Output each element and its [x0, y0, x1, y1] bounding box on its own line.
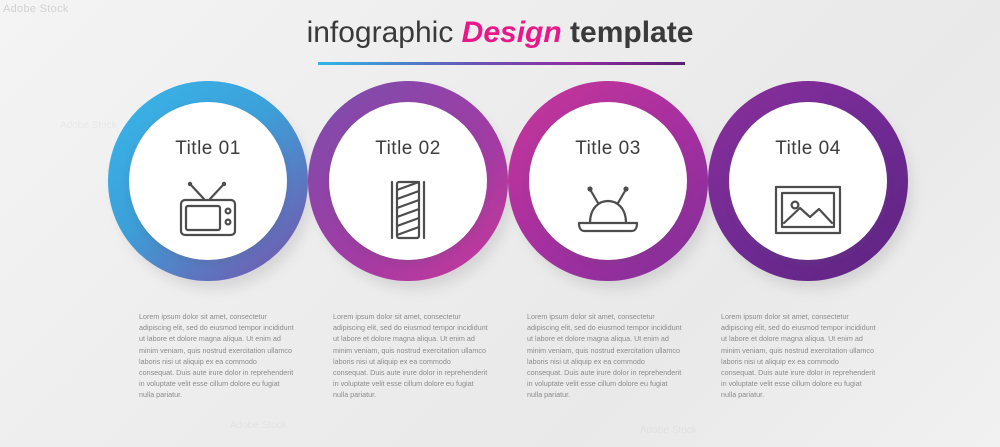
- step-title-1: Title 01: [129, 138, 287, 160]
- watermark-tile: Adobe Stock: [230, 420, 287, 431]
- photo-stamp-icon: [729, 178, 887, 242]
- step-body-1: Lorem ipsum dolor sit amet, consectetur …: [139, 311, 294, 401]
- thread-spool-icon: [329, 178, 487, 242]
- martian-hat-icon: [529, 178, 687, 242]
- title-word-design: Design: [462, 16, 562, 49]
- watermark-tile: Adobe Stock: [640, 425, 697, 436]
- watermark-tile: Adobe Stock: [60, 120, 117, 131]
- page-title: infographic Design template: [0, 16, 1000, 50]
- title-underline: [318, 62, 685, 65]
- title-word-template: template: [570, 16, 693, 49]
- retro-tv-icon: [129, 178, 287, 242]
- step-body-4: Lorem ipsum dolor sit amet, consectetur …: [721, 311, 876, 401]
- step-title-2: Title 02: [329, 138, 487, 160]
- step-body-3: Lorem ipsum dolor sit amet, consectetur …: [527, 311, 682, 401]
- watermark-logo: Adobe Stock: [3, 3, 81, 19]
- step-body-2: Lorem ipsum dolor sit amet, consectetur …: [333, 311, 488, 401]
- step-title-3: Title 03: [529, 138, 687, 160]
- infographic-canvas: Adobe Stock Adobe Stock Adobe Stock Adob…: [0, 0, 1000, 447]
- title-word-infographic: infographic: [307, 16, 454, 49]
- step-title-4: Title 04: [729, 138, 887, 160]
